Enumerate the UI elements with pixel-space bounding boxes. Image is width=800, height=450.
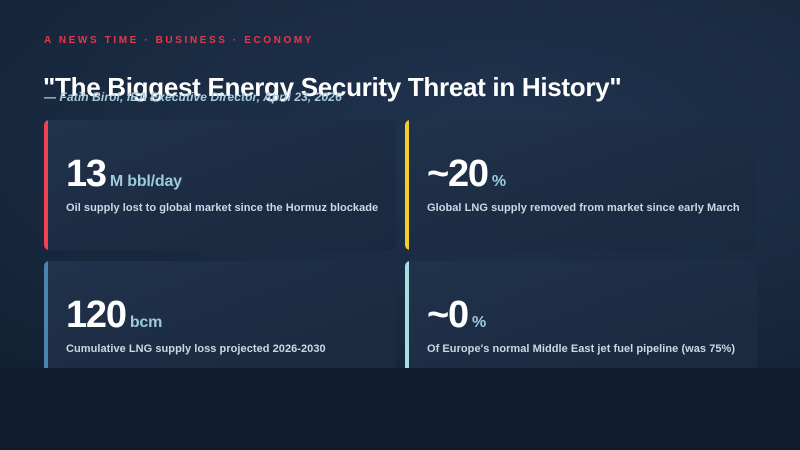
stat-card-body: ~0 % Of Europe's normal Middle East jet … — [427, 296, 741, 355]
stat-unit: M bbl/day — [110, 174, 182, 190]
stat-unit: bcm — [130, 315, 162, 331]
attribution-line: — Fatih Birol, IEA Executive Director, A… — [44, 90, 342, 104]
news-stat-slide: A NEWS TIME · BUSINESS · ECONOMY "The Bi… — [0, 0, 800, 450]
stat-card: ~20 % Global LNG supply removed from mar… — [405, 120, 757, 250]
card-accent-bar — [405, 120, 409, 250]
stat-card: 13 M bbl/day Oil supply lost to global m… — [44, 120, 396, 250]
stat-card-grid: 13 M bbl/day Oil supply lost to global m… — [44, 120, 757, 391]
stat-label: Cumulative LNG supply loss projected 202… — [66, 343, 380, 355]
stat-value: 120 — [66, 296, 126, 334]
stat-unit: % — [492, 174, 506, 190]
stat-label: Oil supply lost to global market since t… — [66, 202, 380, 214]
stat-line: 13 M bbl/day — [66, 155, 380, 193]
stat-card-body: 120 bcm Cumulative LNG supply loss proje… — [66, 296, 380, 355]
card-accent-bar — [44, 120, 48, 250]
stat-value: 13 — [66, 155, 106, 193]
stat-value: ~0 — [427, 296, 468, 334]
stat-label: Global LNG supply removed from market si… — [427, 202, 741, 214]
kicker-eyebrow: A NEWS TIME · BUSINESS · ECONOMY — [44, 35, 314, 46]
stat-line: ~0 % — [427, 296, 741, 334]
bottom-clip-band — [0, 368, 800, 450]
stat-value: ~20 — [427, 155, 488, 193]
stat-label: Of Europe's normal Middle East jet fuel … — [427, 343, 741, 355]
stat-card-body: ~20 % Global LNG supply removed from mar… — [427, 155, 741, 214]
stat-card-body: 13 M bbl/day Oil supply lost to global m… — [66, 155, 380, 214]
stat-unit: % — [472, 315, 486, 331]
stat-line: ~20 % — [427, 155, 741, 193]
stat-line: 120 bcm — [66, 296, 380, 334]
